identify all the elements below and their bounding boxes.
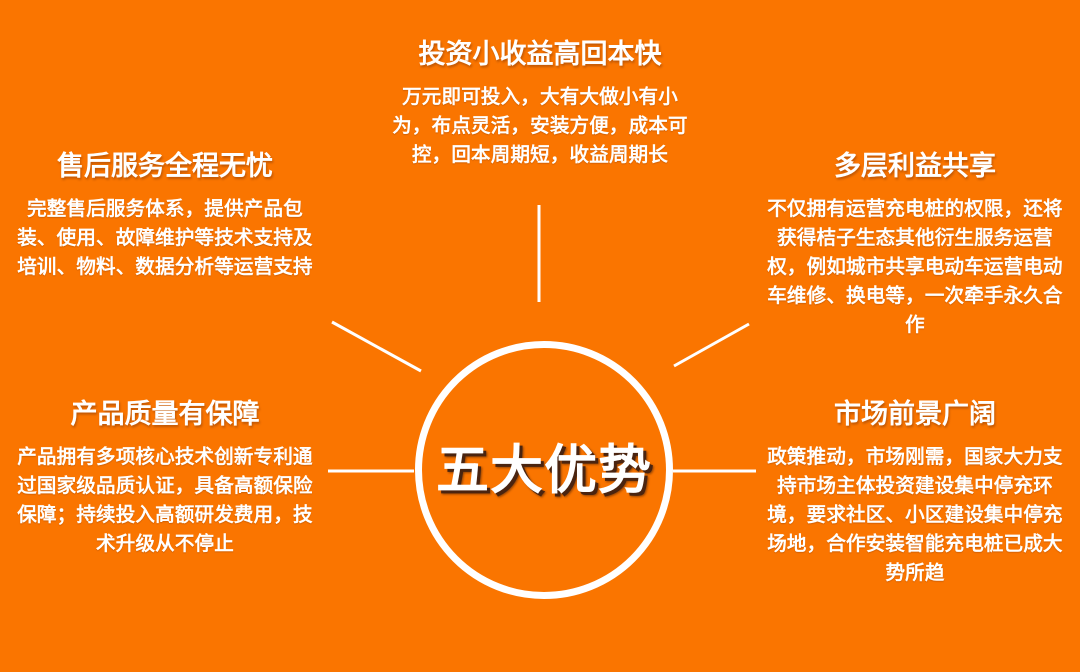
advantage-title-left-top: 售后服务全程无忧: [8, 152, 322, 182]
center-hub-circle: 五大优势: [415, 341, 673, 599]
advantage-title-left-bottom: 产品质量有保障: [8, 400, 322, 430]
infographic-canvas: 五大优势 投资小收益高回本快 万元即可投入，大有大做小有小为，布点灵活，安装方便…: [0, 0, 1080, 672]
advantage-block-center-top: 投资小收益高回本快 万元即可投入，大有大做小有小为，布点灵活，安装方便，成本可控…: [384, 40, 696, 170]
center-hub-title: 五大优势: [436, 444, 652, 497]
advantage-block-right-bottom: 市场前景广阔 政策推动，市场刚需，国家大力支持市场主体投资建设集中停充环境，要求…: [758, 400, 1072, 588]
advantage-title-right-bottom: 市场前景广阔: [758, 400, 1072, 430]
advantage-body-left-bottom: 产品拥有多项核心技术创新专利通过国家级品质认证，具备高额保险保障；持续投入高额研…: [8, 443, 322, 559]
advantage-block-left-top: 售后服务全程无忧 完整售后服务体系，提供产品包装、使用、故障维护等技术支持及培训…: [8, 152, 322, 282]
advantage-block-left-bottom: 产品质量有保障 产品拥有多项核心技术创新专利通过国家级品质认证，具备高额保险保障…: [8, 400, 322, 559]
advantage-body-center-top: 万元即可投入，大有大做小有小为，布点灵活，安装方便，成本可控，回本周期短，收益周…: [384, 83, 696, 170]
advantage-body-right-bottom: 政策推动，市场刚需，国家大力支持市场主体投资建设集中停充环境，要求社区、小区建设…: [758, 443, 1072, 588]
connector-line-upper-left-diagonal: [332, 322, 421, 371]
advantage-body-left-top: 完整售后服务体系，提供产品包装、使用、故障维护等技术支持及培训、物料、数据分析等…: [8, 195, 322, 282]
advantage-body-right-top: 不仅拥有运营充电桩的权限，还将获得桔子生态其他衍生服务运营权，例如城市共享电动车…: [758, 195, 1072, 340]
connector-line-upper-right-diagonal: [674, 324, 749, 366]
advantage-title-right-top: 多层利益共享: [758, 152, 1072, 182]
advantage-block-right-top: 多层利益共享 不仅拥有运营充电桩的权限，还将获得桔子生态其他衍生服务运营权，例如…: [758, 152, 1072, 340]
advantage-title-center-top: 投资小收益高回本快: [384, 40, 696, 70]
